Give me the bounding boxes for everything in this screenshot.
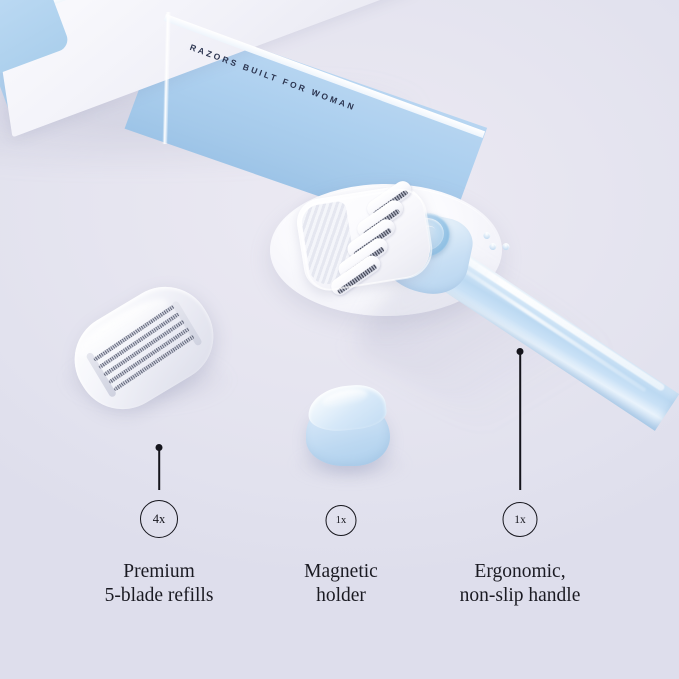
callout-label-line1: Magnetic: [304, 561, 378, 582]
callout-label-line1: Premium: [123, 561, 195, 582]
callout-label: Premium5-blade refills: [105, 560, 214, 608]
callout-layer: 4x Premium5-blade refills 1x Magnetichol…: [0, 0, 679, 679]
callout-label: Magneticholder: [304, 560, 378, 608]
callout-label-line2: holder: [316, 585, 366, 606]
callout-label: Ergonomic,non-slip handle: [460, 560, 581, 608]
quantity-badge: 1x: [503, 502, 538, 537]
quantity-badge: 4x: [140, 500, 178, 538]
callout-label-line2: non-slip handle: [460, 585, 581, 606]
callout-label-line1: Ergonomic,: [474, 561, 565, 582]
product-photo-scene: RAZORS BUILT FOR WOMAN: [0, 0, 679, 679]
leader-line: [158, 449, 160, 490]
quantity-badge: 1x: [326, 505, 357, 536]
leader-line: [519, 353, 521, 490]
callout-label-line2: 5-blade refills: [105, 585, 214, 606]
